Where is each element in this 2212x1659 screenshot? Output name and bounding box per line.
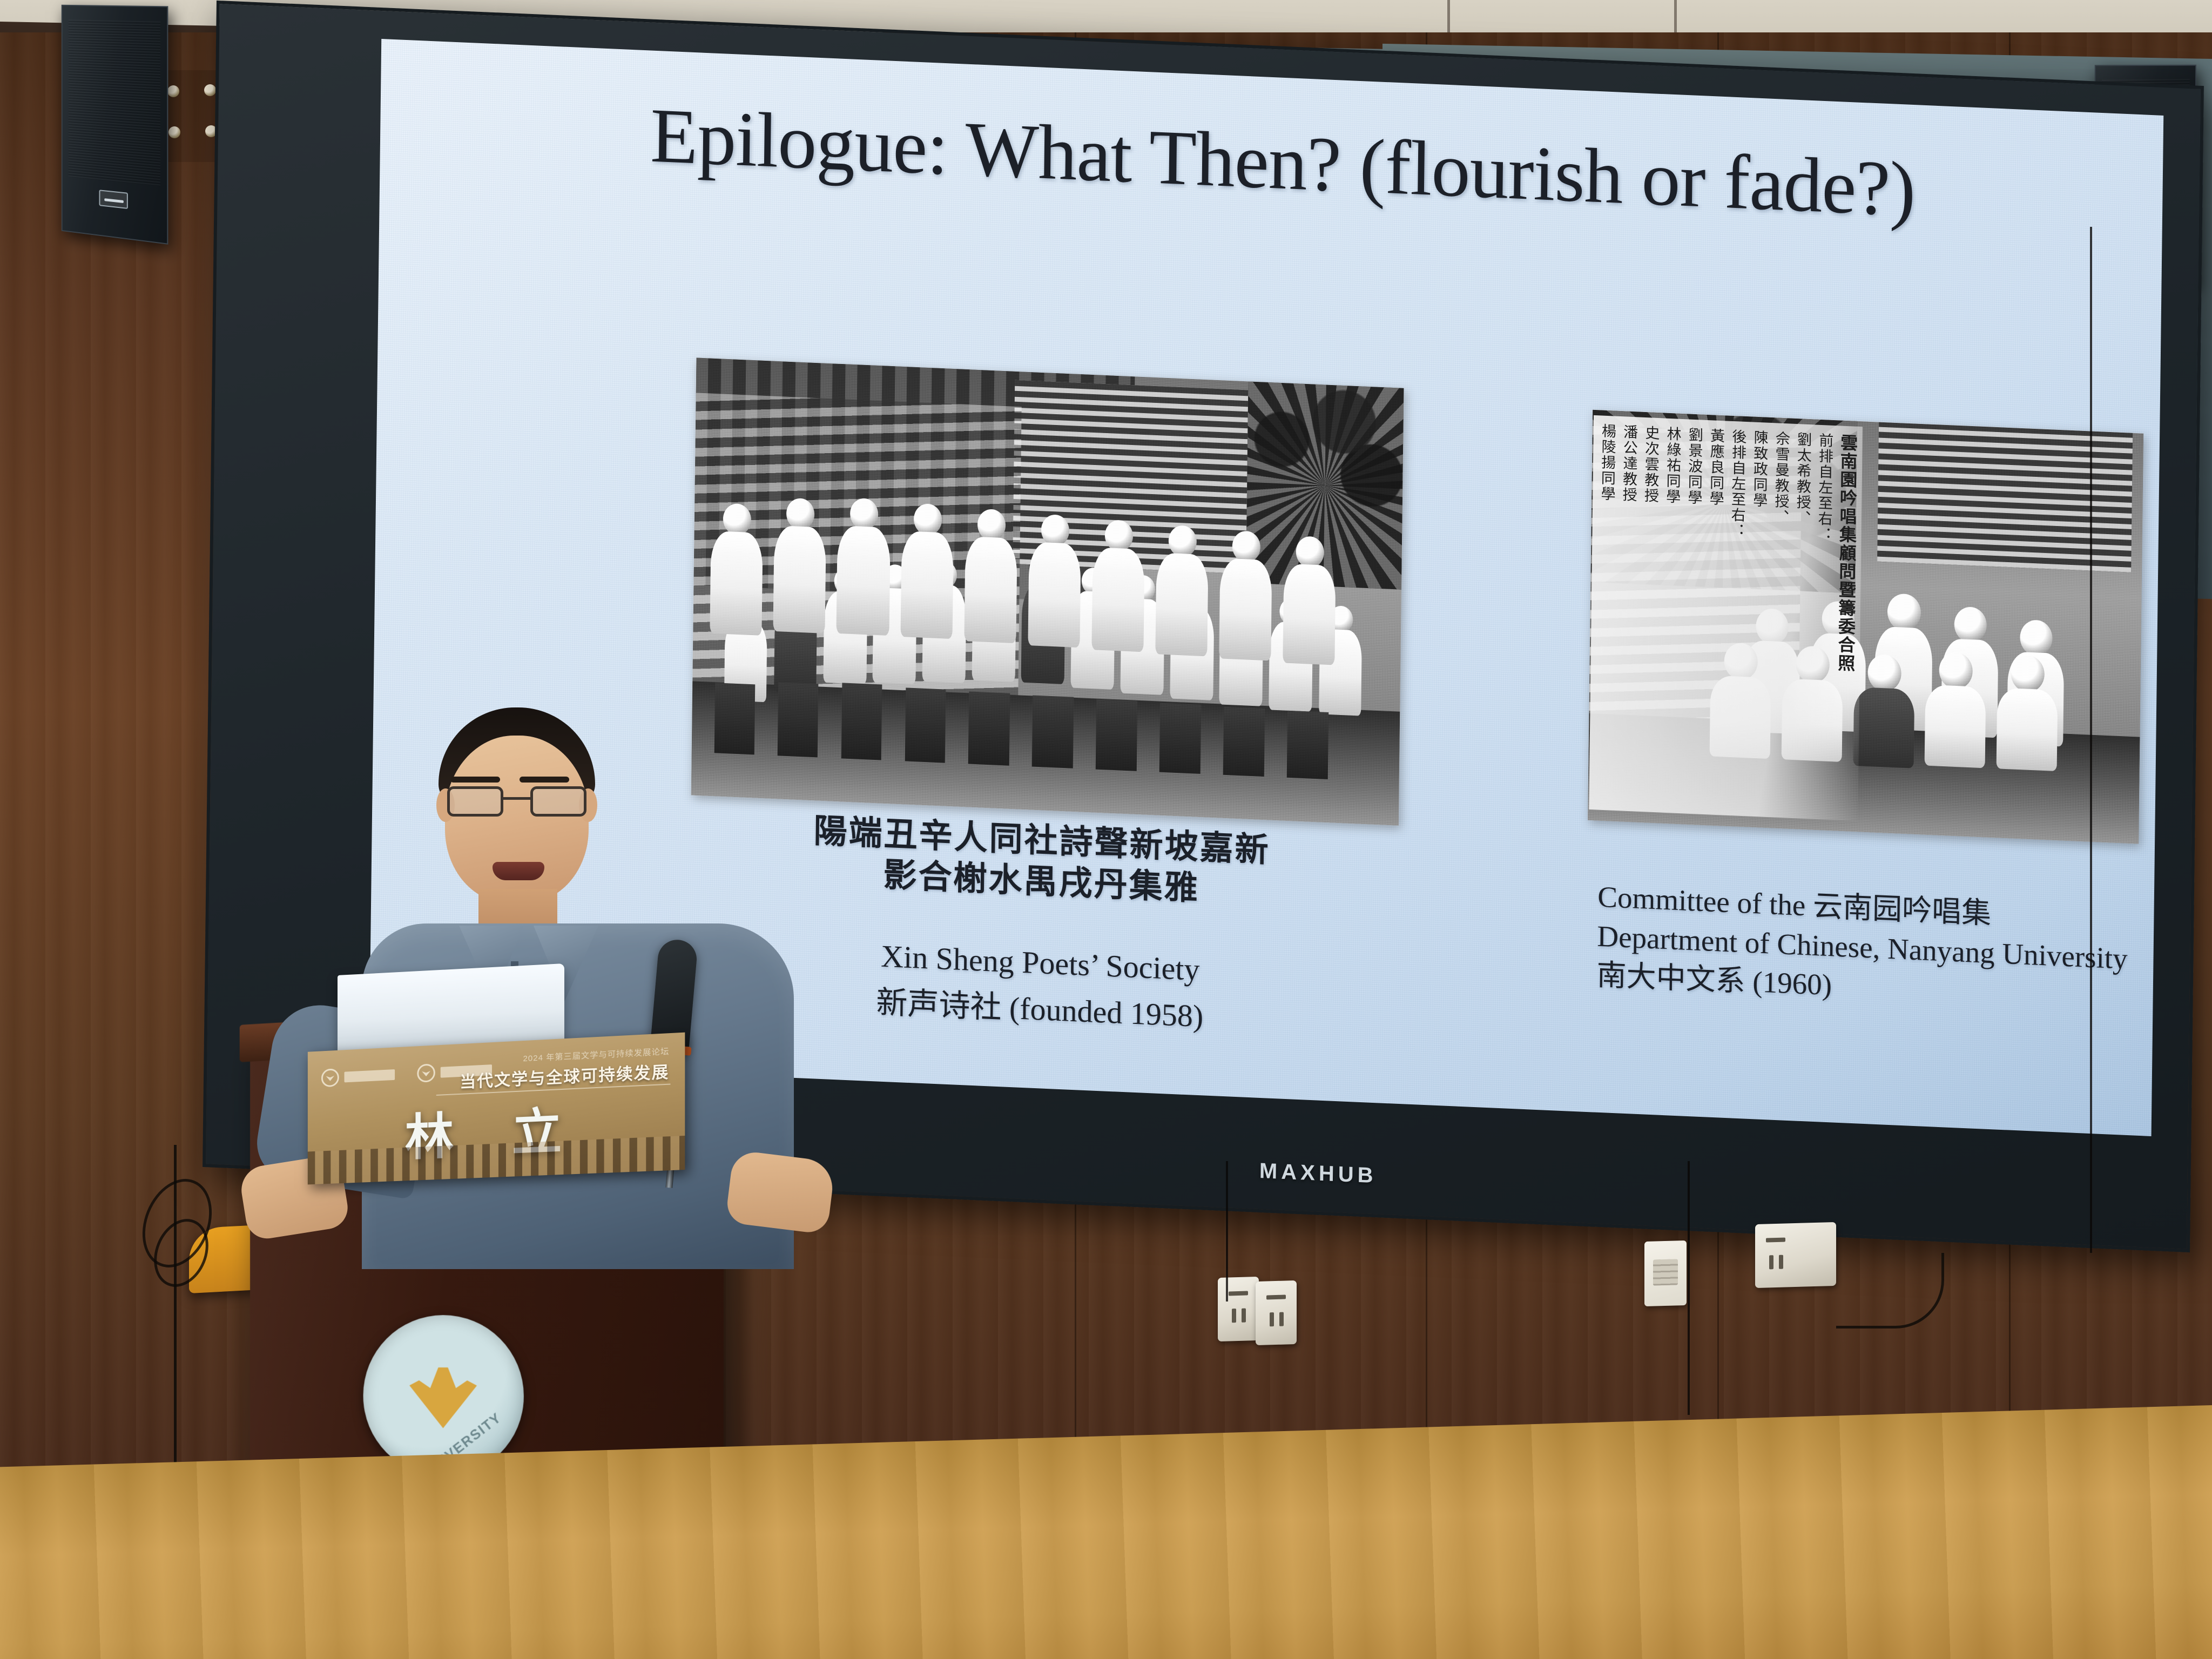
display-brand-label: MAXHUB bbox=[1259, 1159, 1377, 1188]
wall-cable bbox=[1226, 1161, 1228, 1301]
loudspeaker-left bbox=[62, 5, 168, 245]
overlay-col: 劉太希教授、 bbox=[1790, 431, 1811, 811]
overlay-col: 佘雪曼教授、 bbox=[1768, 430, 1789, 810]
presenter bbox=[378, 707, 788, 1247]
overlay-col: 林綠祐同學 bbox=[1660, 426, 1681, 805]
overlay-col: 潘公達教授 bbox=[1616, 424, 1637, 804]
photo-group-figures bbox=[692, 480, 1402, 782]
presenter-brow-left bbox=[450, 777, 500, 783]
light-switch[interactable] bbox=[1644, 1240, 1687, 1306]
overlay-col: 楊陵揚同學 bbox=[1594, 423, 1615, 802]
speaker-badge-icon bbox=[99, 190, 128, 209]
photo-xin-sheng-society bbox=[691, 358, 1404, 825]
overlay-col: 劉景波同學 bbox=[1681, 427, 1702, 806]
photo-vertical-chinese-overlay: 雲南園吟唱集顧問暨籌委合照 前排自左至右： 劉太希教授、 佘雪曼教授、 陳致政同… bbox=[1589, 415, 1863, 821]
presenter-shirt-placket bbox=[511, 961, 518, 1096]
phoenix-icon bbox=[403, 1364, 483, 1428]
wall-cable bbox=[2090, 227, 2092, 1253]
overlay-col: 陳致政同學 bbox=[1746, 429, 1768, 809]
glasses-icon bbox=[447, 786, 586, 820]
overlay-col: 後排自左至右： bbox=[1725, 429, 1746, 808]
presenter-brow-right bbox=[520, 777, 569, 783]
overlay-col: 前排自左至右： bbox=[1812, 433, 1833, 812]
speaker-grille bbox=[69, 19, 160, 186]
overlay-col: 黃應良同學 bbox=[1703, 428, 1724, 807]
overlay-col: 史次雲教授 bbox=[1638, 425, 1659, 805]
lecture-hall-scene: Epilogue: What Then? (flourish or fade?) bbox=[0, 0, 2212, 1659]
wall-cable bbox=[1688, 1161, 1690, 1415]
caption-right-photo: Committee of the 云南园吟唱集 Department of Ch… bbox=[1596, 878, 2128, 1018]
power-socket-double[interactable] bbox=[1755, 1222, 1836, 1288]
power-socket[interactable] bbox=[1256, 1280, 1297, 1345]
overlay-col: 雲南園吟唱集顧問暨籌委合照 bbox=[1833, 433, 1857, 813]
photo-nanyang-committee: 雲南園吟唱集顧問暨籌委合照 前排自左至右： 劉太希教授、 佘雪曼教授、 陳致政同… bbox=[1588, 410, 2143, 844]
power-socket[interactable] bbox=[1218, 1277, 1259, 1341]
presenter-mouth bbox=[493, 862, 544, 880]
caption-left-photo: 陽端丑辛人同社詩聲新坡嘉新 影合榭水禺戌丹集雅 Xin Sheng Poets’… bbox=[716, 807, 1366, 1044]
slide-title: Epilogue: What Then? (flourish or fade?) bbox=[650, 91, 1916, 235]
